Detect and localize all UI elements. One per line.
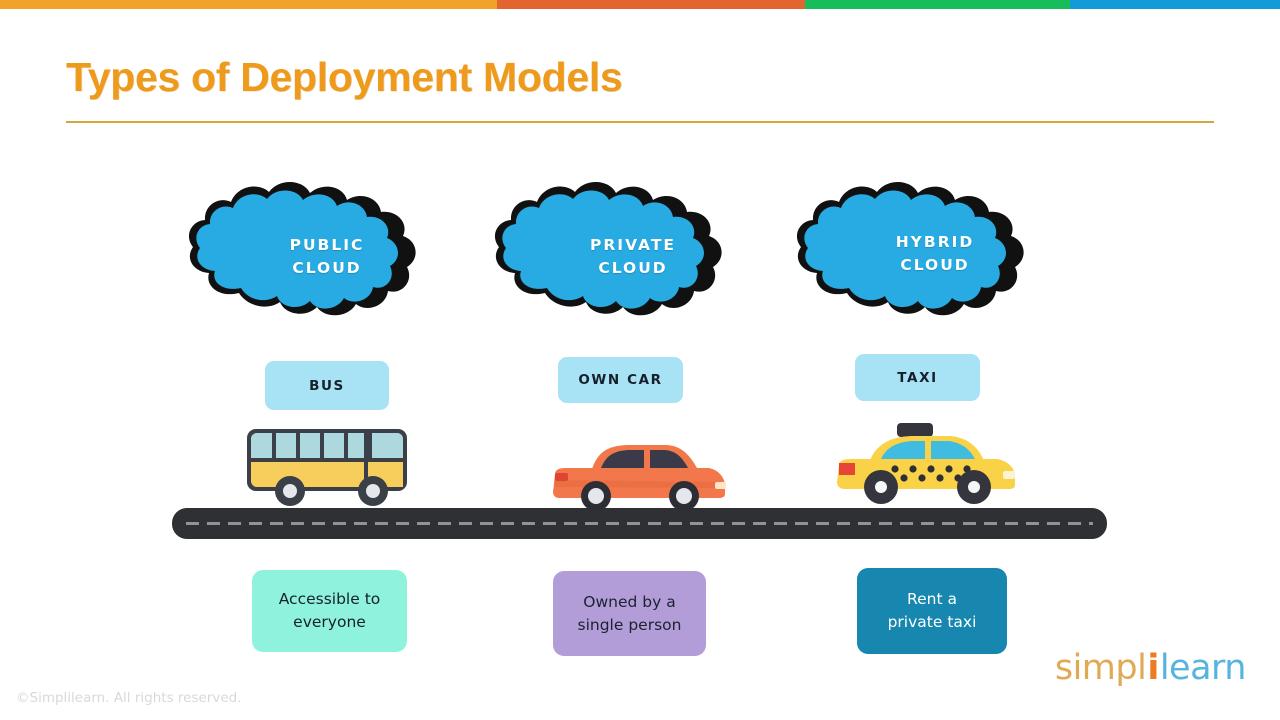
desc-hybrid-text: Rent a private taxi (888, 588, 977, 634)
desc-card-hybrid: Rent a private taxi (857, 568, 1007, 654)
column-private-cloud: PRIVATE CLOUD OWN CAR (463, 0, 803, 720)
chip-own-car-label: OWN CAR (578, 372, 662, 388)
bus-illustration (243, 425, 413, 512)
bus-icon (247, 429, 407, 506)
desc-public-text: Accessible to everyone (279, 588, 381, 634)
chip-bus-label: BUS (309, 378, 345, 394)
desc-hybrid-line1: Rent a (907, 590, 957, 608)
car-icon (553, 445, 726, 510)
column-hybrid-cloud: HYBRID CLOUD TAXI (765, 0, 1105, 720)
desc-card-public: Accessible to everyone (252, 570, 407, 652)
chip-own-car[interactable]: OWN CAR (558, 357, 683, 403)
cloud-private: PRIVATE CLOUD (463, 178, 803, 328)
cloud-shape-icon (797, 182, 1024, 315)
desc-public-line2: everyone (293, 613, 366, 631)
cloud-shape-icon (495, 182, 722, 315)
desc-hybrid-line2: private taxi (888, 613, 977, 631)
logo-part-learn: learn (1160, 648, 1246, 688)
desc-public-line1: Accessible to (279, 590, 381, 608)
desc-private-text: Owned by a single person (578, 591, 682, 637)
taxi-icon (837, 423, 1015, 504)
chip-bus[interactable]: BUS (265, 361, 389, 410)
cloud-public: PUBLIC CLOUD (157, 178, 497, 328)
taxi-illustration (833, 417, 1023, 512)
chip-taxi[interactable]: TAXI (855, 354, 980, 401)
simplilearn-logo: simplilearn (1055, 648, 1246, 688)
cloud-shape-icon (189, 182, 416, 315)
desc-card-private: Owned by a single person (553, 571, 706, 656)
logo-accent-mark: i (1147, 648, 1159, 688)
desc-private-line2: single person (578, 616, 682, 634)
car-illustration (549, 440, 729, 515)
desc-private-line1: Owned by a (583, 593, 675, 611)
cloud-hybrid: HYBRID CLOUD (765, 178, 1105, 328)
logo-part-simpl: simpl (1055, 648, 1147, 688)
copyright-text: ©Simplilearn. All rights reserved. (16, 690, 242, 706)
chip-taxi-label: TAXI (897, 370, 937, 386)
column-public-cloud: PUBLIC CLOUD BUS (157, 0, 497, 720)
slide-canvas: Types of Deployment Models PUBLIC CLOUD … (0, 0, 1280, 720)
